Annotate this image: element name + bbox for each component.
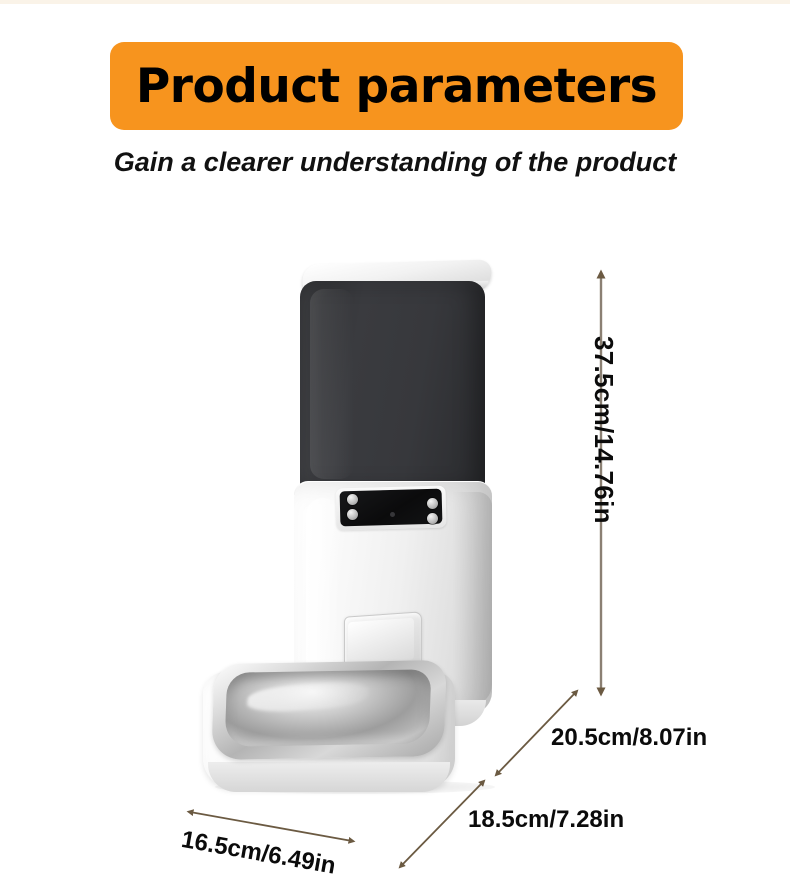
depth-dimension-label: 20.5cm/8.07in xyxy=(551,724,707,752)
product-parameters-page: Product parameters Gain a clearer unders… xyxy=(0,0,790,892)
diagonal-dimension-label: 18.5cm/7.28in xyxy=(468,806,624,834)
dimension-arrows xyxy=(0,0,790,892)
height-dimension-label: 37.5cm/14.76in xyxy=(588,336,619,524)
